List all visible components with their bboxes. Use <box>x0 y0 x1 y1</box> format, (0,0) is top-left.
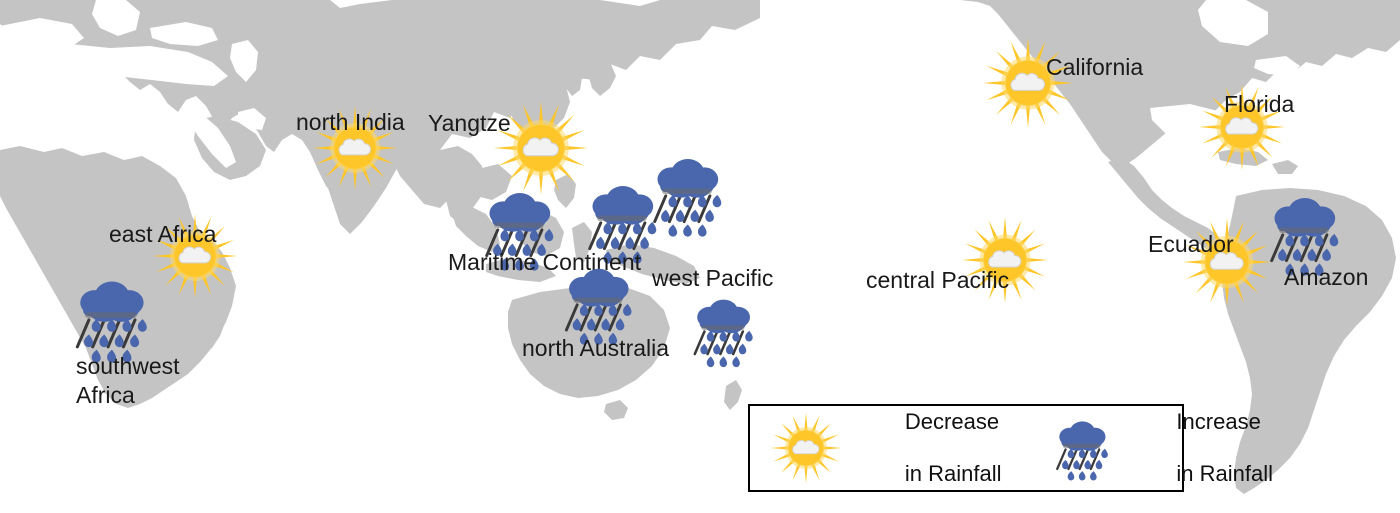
sun-decrease-icon <box>770 412 842 484</box>
legend-decrease-line2: in Rainfall <box>905 461 1002 486</box>
legend-box: Decrease in Rainfall Increase in Rainfal… <box>748 404 1184 492</box>
region-label-amazon: Amazon <box>1284 265 1368 290</box>
region-label-line: Ecuador <box>1148 232 1234 257</box>
region-label-line: southwest <box>76 352 180 381</box>
legend-item-increase: Increase in Rainfall <box>1046 383 1274 513</box>
tasmania-landmass <box>604 400 628 420</box>
legend-decrease-line1: Decrease <box>905 409 999 434</box>
legend-label-decrease: Decrease in Rainfall <box>856 383 1002 513</box>
region-label-florida: Florida <box>1224 92 1294 117</box>
region-label-line: north India <box>296 110 405 135</box>
region-label-line: Yangtze <box>428 111 511 136</box>
region-label-california: California <box>1046 55 1143 80</box>
region-label-line: north Australia <box>522 336 669 361</box>
rain-increase-icon <box>1046 413 1116 483</box>
region-label-east-africa: east Africa <box>109 222 216 247</box>
new-zealand-landmass <box>724 380 742 410</box>
region-label-line: Amazon <box>1284 265 1368 290</box>
region-label-central-pacific: central Pacific <box>866 268 1009 293</box>
rain-increase-icon <box>640 148 732 240</box>
legend-label-increase: Increase in Rainfall <box>1128 383 1274 513</box>
legend-increase-line2: in Rainfall <box>1176 461 1273 486</box>
region-label-line: east Africa <box>109 222 216 247</box>
legend-increase-line1: Increase <box>1176 409 1260 434</box>
legend-item-decrease: Decrease in Rainfall <box>770 383 1002 513</box>
region-label-yangtze: Yangtze <box>428 111 511 136</box>
rain-increase-icon <box>682 290 762 370</box>
region-label-north-india: north India <box>296 110 405 135</box>
rainfall-change-world-map: north India Yangtze east Africa Californ… <box>0 0 1400 505</box>
region-label-north-australia: north Australia <box>522 336 669 361</box>
region-label-line: California <box>1046 55 1143 80</box>
region-label-line: central Pacific <box>866 268 1009 293</box>
region-label-southwest-africa: southwestAfrica <box>76 352 180 410</box>
sun-decrease-icon <box>982 37 1074 129</box>
region-label-line: Florida <box>1224 92 1294 117</box>
region-label-line: Africa <box>76 381 180 410</box>
region-label-ecuador: Ecuador <box>1148 232 1234 257</box>
region-label-west-pacific: west Pacific <box>652 266 773 291</box>
region-label-line: west Pacific <box>652 266 773 291</box>
